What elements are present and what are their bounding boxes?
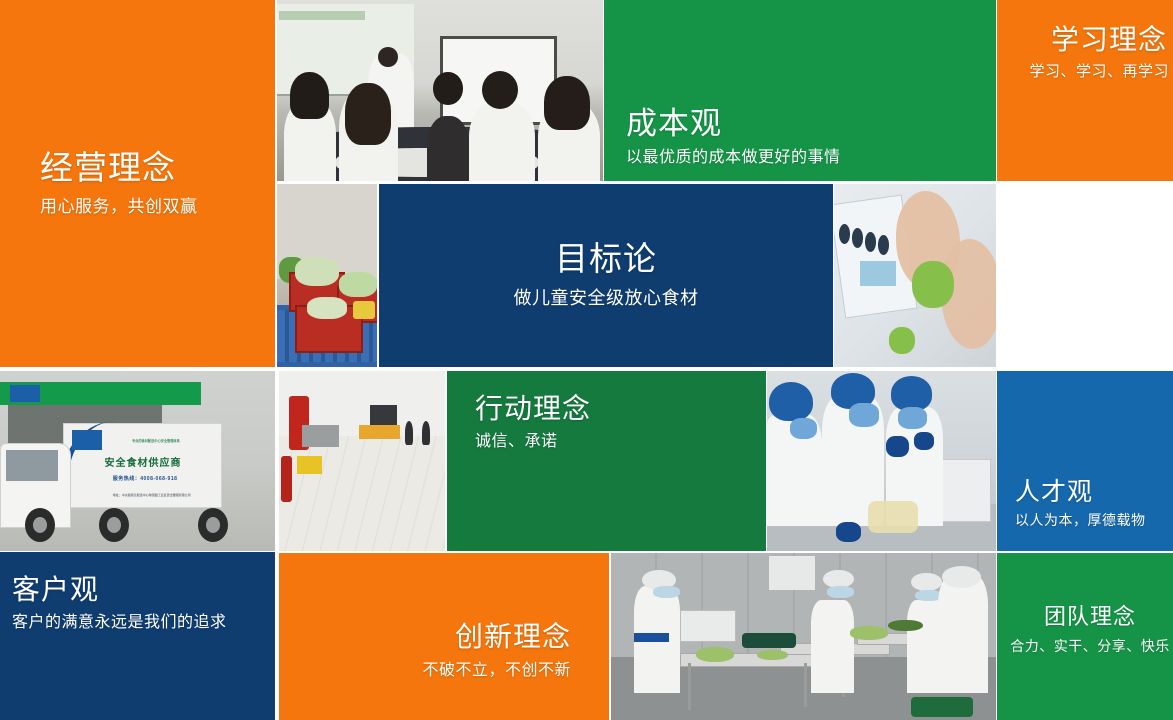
meeting-room-image xyxy=(277,0,603,181)
equipment-box xyxy=(680,610,736,642)
facility-floor-image xyxy=(279,371,445,551)
attendee-head xyxy=(345,83,391,145)
tile-innovation-philosophy-subtitle: 不破不立，不创不新 xyxy=(422,661,571,680)
food-sample-bag xyxy=(868,501,918,533)
photo-meeting-room[interactable] xyxy=(277,0,603,181)
tile-cost-view-title: 成本观 xyxy=(626,107,996,142)
blue-glove xyxy=(836,522,861,542)
tile-business-philosophy-subtitle: 用心服务，共创双赢 xyxy=(40,197,275,217)
tile-business-philosophy-title: 经营理念 xyxy=(40,150,275,187)
vegetable-bundle xyxy=(307,297,347,319)
vegetable-pile xyxy=(757,650,788,660)
hair-net xyxy=(769,382,813,422)
hair-net xyxy=(891,376,932,410)
photo-quality-inspection[interactable] xyxy=(767,371,996,551)
central-kitchen-image xyxy=(611,553,996,720)
attendee-figure xyxy=(469,101,534,181)
truck-logo-badge xyxy=(72,430,102,450)
truck-hotline-text: 服务热线：4008-068-918 xyxy=(113,475,178,482)
tile-action-philosophy[interactable]: 行动理念 诚信、承诺 xyxy=(447,371,766,551)
stacked-boxes-shape xyxy=(359,425,401,439)
lettuce-sample xyxy=(889,327,915,354)
face-mask xyxy=(827,586,854,598)
yellow-bin xyxy=(353,301,375,319)
tile-goal-theory-title: 目标论 xyxy=(555,241,657,278)
tile-innovation-philosophy-title: 创新理念 xyxy=(455,621,571,652)
lettuce-sample xyxy=(912,261,954,309)
culture-mosaic-board: 经营理念 用心服务，共创双赢 成本观 以最优质的成本做更好的事情 学习理念 xyxy=(0,0,1173,720)
tile-learning-philosophy[interactable]: 学习理念 学习、学习、再学习 xyxy=(997,0,1173,181)
hair-net xyxy=(823,570,854,588)
table-leg xyxy=(804,663,807,706)
tile-action-philosophy-subtitle: 诚信、承诺 xyxy=(475,432,766,451)
vegetable-pile xyxy=(696,647,735,662)
hair-net xyxy=(942,566,981,588)
test-tube xyxy=(852,228,863,248)
face-mask xyxy=(849,403,879,426)
truck-wheel xyxy=(25,508,55,542)
face-mask xyxy=(653,586,680,598)
photo-lab-testing[interactable]: 环境论 环保、安全、健康 xyxy=(834,184,996,367)
face-mask xyxy=(898,407,928,429)
tile-cost-view[interactable]: 成本观 以最优质的成本做更好的事情 xyxy=(604,0,996,181)
quality-inspection-image xyxy=(767,371,996,551)
truck-top-line-text: 专业的食材配送中心安全管理体系 xyxy=(132,438,180,443)
photo-vegetable-crates[interactable] xyxy=(277,184,377,367)
blue-glove xyxy=(886,436,909,458)
tile-team-philosophy-subtitle: 合力、实干、分享、快乐 xyxy=(1007,638,1173,655)
tile-action-philosophy-title: 行动理念 xyxy=(475,393,766,424)
red-bin-shape xyxy=(281,456,293,503)
kitchen-worker-figure xyxy=(811,600,853,694)
green-bin xyxy=(911,697,973,717)
table-leg xyxy=(688,663,691,710)
tile-goal-theory[interactable]: 目标论 做儿童安全级放心食材 xyxy=(379,184,833,367)
tile-cost-view-subtitle: 以最优质的成本做更好的事情 xyxy=(626,148,996,167)
green-bin xyxy=(742,633,796,648)
truck-wheel xyxy=(99,508,129,542)
attendee-head xyxy=(290,72,329,119)
vegetable-bundle xyxy=(295,257,339,286)
truck-window-shape xyxy=(6,450,58,481)
tile-goal-theory-subtitle: 做儿童安全级放心食材 xyxy=(514,288,699,310)
extraction-hood-shape xyxy=(769,556,815,589)
vegetable-pile xyxy=(850,626,889,639)
photo-delivery-truck[interactable]: 专业的食材配送中心安全管理体系 安全食材供应商 服务热线：4008-068-91… xyxy=(0,371,275,551)
photo-facility-floor[interactable] xyxy=(279,371,445,551)
delivery-truck-image: 专业的食材配送中心安全管理体系 安全食材供应商 服务热线：4008-068-91… xyxy=(0,371,275,551)
attendee-head xyxy=(433,72,462,105)
tile-customer-view-title: 客户观 xyxy=(12,574,275,605)
attendee-head xyxy=(544,76,590,130)
steel-bench-shape xyxy=(302,425,339,447)
truck-fine-print-text: 地址：中央厨房及配送中心物流园工业区安全管理有限公司 xyxy=(113,493,191,497)
attendee-figure xyxy=(427,116,469,181)
yellow-crate-shape xyxy=(297,456,322,474)
tile-talent-view-subtitle: 以人为本，厚德载物 xyxy=(1015,512,1173,529)
blue-glove xyxy=(914,432,935,450)
face-mask xyxy=(790,418,817,440)
tile-learning-philosophy-subtitle: 学习、学习、再学习 xyxy=(1005,63,1173,81)
test-tube xyxy=(865,232,876,252)
equipment-shape xyxy=(422,421,430,444)
presenter-head xyxy=(378,47,398,67)
company-logo-badge xyxy=(10,385,40,402)
wall-panel-shape xyxy=(370,405,397,427)
tile-business-philosophy[interactable]: 经营理念 用心服务，共创双赢 xyxy=(0,0,275,367)
green-storefront-sign xyxy=(0,382,201,405)
vegetable-bundle xyxy=(339,272,377,298)
tile-customer-view[interactable]: 客户观 客户的满意永远是我们的追求 xyxy=(0,552,275,720)
tile-team-philosophy-title: 团队理念 xyxy=(1007,605,1173,630)
tiled-floor-shape xyxy=(279,436,445,551)
equipment-shape xyxy=(405,421,413,444)
vegetable-crates-image xyxy=(277,184,377,367)
tile-team-philosophy[interactable]: 团队理念 合力、实干、分享、快乐 xyxy=(997,553,1173,720)
truck-wheel xyxy=(198,508,228,542)
worker-apron-band xyxy=(634,633,669,641)
lab-testing-image xyxy=(834,184,996,367)
tile-talent-view[interactable]: 人才观 以人为本，厚德载物 xyxy=(997,371,1173,551)
tile-learning-philosophy-title: 学习理念 xyxy=(1005,24,1173,55)
tile-customer-view-subtitle: 客户的满意永远是我们的追求 xyxy=(12,613,275,632)
tile-talent-view-title: 人才观 xyxy=(1015,478,1173,506)
kitchen-worker-figure xyxy=(938,576,988,693)
photo-central-kitchen[interactable] xyxy=(611,553,996,720)
truck-banner-text: 安全食材供应商 xyxy=(105,454,182,469)
tile-innovation-philosophy[interactable]: 创新理念 不破不立，不创不新 xyxy=(279,553,609,720)
reagent-card xyxy=(860,261,896,287)
attendee-head xyxy=(482,71,518,109)
